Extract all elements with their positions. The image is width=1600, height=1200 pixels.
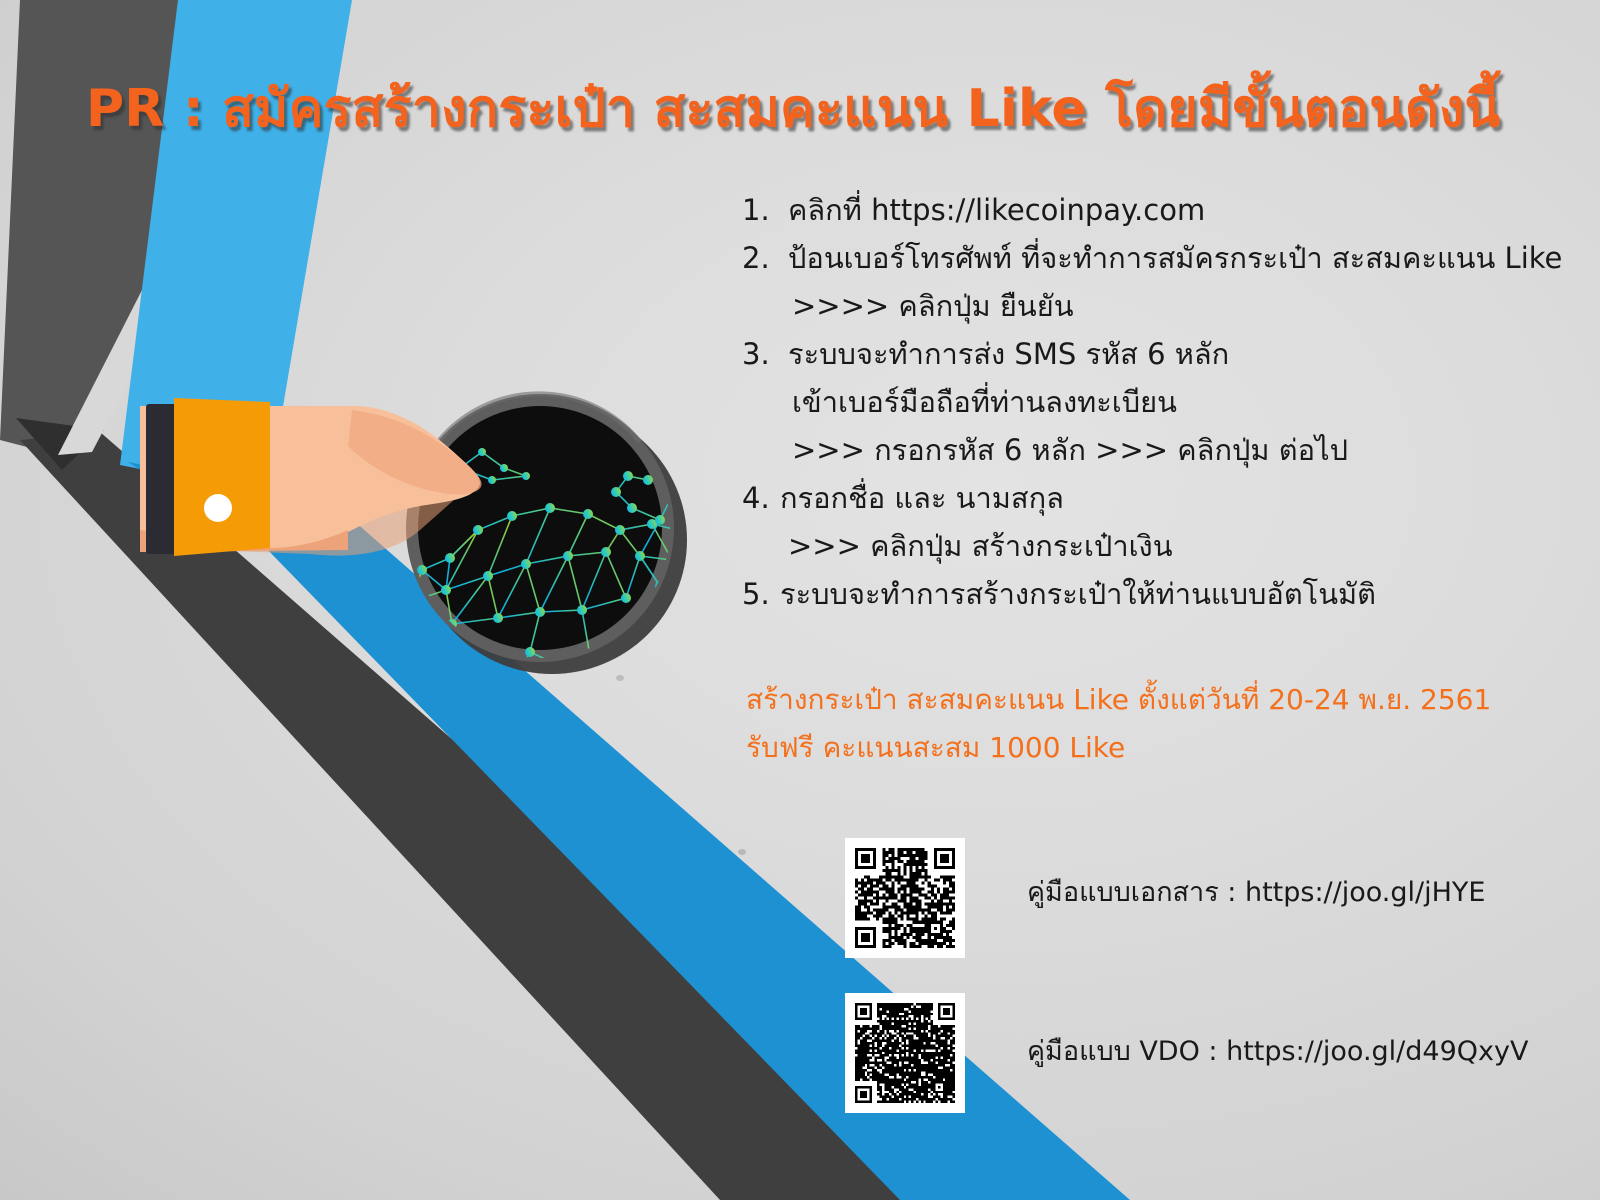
step-text: >>>> คลิกปุ่ม ยืนยัน [792, 282, 1074, 330]
step-item-3-continuation-1: เข้าเบอร์มือถือที่ท่านลงทะเบียน [742, 378, 1532, 426]
step-item-5: 5. ระบบจะทำการสร้างกระเป๋าให้ท่านแบบอัตโ… [742, 570, 1532, 618]
indent-spacer [742, 282, 792, 330]
qr-code-vdo[interactable] [845, 993, 965, 1113]
sleeve-shape [174, 398, 270, 556]
step-text: >>> กรอกรหัส 6 หลัก >>> คลิกปุ่ม ต่อไป [792, 426, 1348, 474]
step-text: >>> คลิกปุ่ม สร้างกระเป๋าเงิน [788, 522, 1173, 570]
qr-label-document[interactable]: คู่มือแบบเอกสาร : https://joo.gl/jHYE [1027, 870, 1485, 913]
step-text: ระบบจะทำการส่ง SMS รหัส 6 หลัก [788, 330, 1229, 378]
indent-spacer [742, 522, 788, 570]
indent-spacer [742, 378, 792, 426]
qr-canvas-vdo [855, 1003, 955, 1103]
step-item-3-continuation-2: >>> กรอกรหัส 6 หลัก >>> คลิกปุ่ม ต่อไป [742, 426, 1532, 474]
sleeve-button [204, 494, 232, 522]
step-number: 4. [742, 474, 780, 522]
step-text: คลิกที่ https://likecoinpay.com [788, 186, 1205, 234]
promo-block: สร้างกระเป๋า สะสมคะแนน Like ตั้งแต่วันที… [746, 676, 1491, 772]
page-title-text: PR : สมัครสร้างกระเป๋า สะสมคะแนน Like โด… [86, 79, 1500, 139]
step-item-2: 2. ป้อนเบอร์โทรศัพท์ ที่จะทำการสมัครกระเ… [742, 234, 1532, 282]
promo-line-bonus: รับฟรี คะแนนสะสม 1000 Like [746, 724, 1491, 772]
step-number: 1. [742, 186, 788, 234]
sleeve [146, 398, 270, 556]
poster-root: PR : สมัครสร้างกระเป๋า สะสมคะแนน Like โด… [0, 0, 1600, 1200]
indent-spacer [742, 426, 792, 474]
step-item-2-continuation: >>>> คลิกปุ่ม ยืนยัน [742, 282, 1532, 330]
step-item-1: 1. คลิกที่ https://likecoinpay.com [742, 186, 1532, 234]
step-number: 3. [742, 330, 788, 378]
step-text: กรอกชื่อ และ นามสกุล [780, 474, 1064, 522]
speckle-b [738, 849, 746, 855]
cuff-dark-shape [146, 404, 178, 554]
step-number: 2. [742, 234, 788, 282]
step-item-4-continuation: >>> คลิกปุ่ม สร้างกระเป๋าเงิน [742, 522, 1532, 570]
qr-code-document[interactable] [845, 838, 965, 958]
step-item-3: 3. ระบบจะทำการส่ง SMS รหัส 6 หลัก [742, 330, 1532, 378]
step-text: ระบบจะทำการสร้างกระเป๋าให้ท่านแบบอัตโนมั… [780, 570, 1376, 618]
step-text: เข้าเบอร์มือถือที่ท่านลงทะเบียน [792, 378, 1177, 426]
promo-line-period: สร้างกระเป๋า สะสมคะแนน Like ตั้งแต่วันที… [746, 676, 1491, 724]
step-number: 5. [742, 570, 780, 618]
page-title: PR : สมัครสร้างกระเป๋า สะสมคะแนน Like โด… [86, 72, 1556, 146]
qr-canvas-document [855, 848, 955, 948]
steps-list: 1. คลิกที่ https://likecoinpay.com 2. ป้… [742, 186, 1532, 618]
step-text: ป้อนเบอร์โทรศัพท์ ที่จะทำการสมัครกระเป๋า… [788, 234, 1562, 282]
qr-label-vdo[interactable]: คู่มือแบบ VDO : https://joo.gl/d49QxyV [1027, 1029, 1528, 1072]
step-item-4: 4. กรอกชื่อ และ นามสกุล [742, 474, 1532, 522]
hand-tapping-coin-illustration [120, 380, 740, 690]
